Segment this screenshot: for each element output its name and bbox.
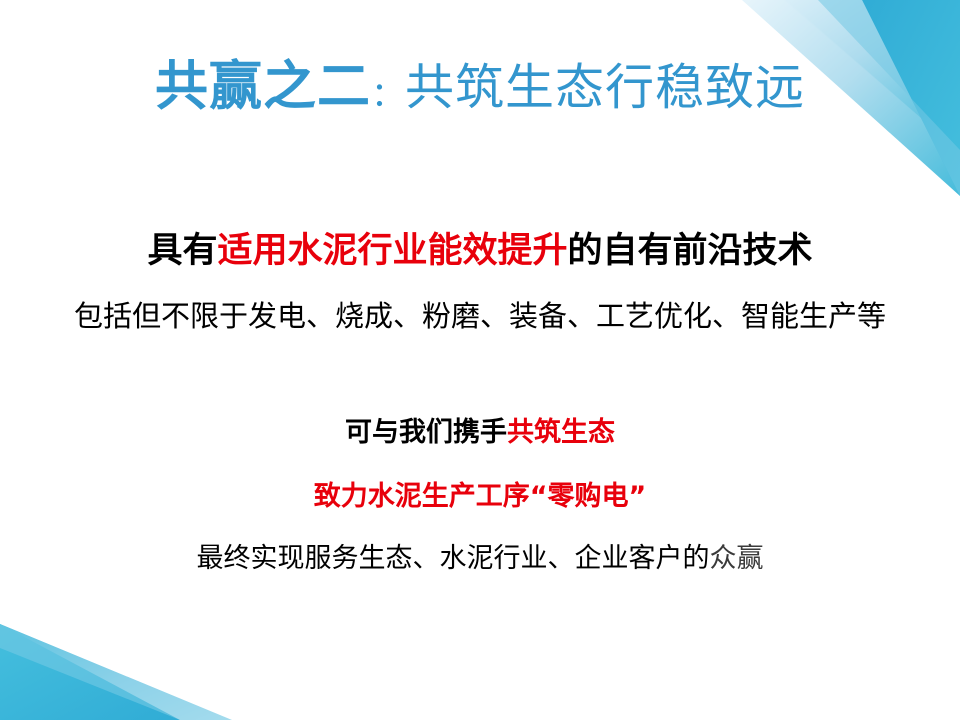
- decoration-bottom-left-sliver: [0, 624, 232, 720]
- decoration-bottom-left-light-band: [0, 624, 232, 720]
- body-line-3-prefix: 可与我们携手: [345, 417, 507, 448]
- title-light-part: 共筑生态行稳致远: [405, 59, 805, 116]
- title-colon: ：: [371, 75, 405, 115]
- body-line-5-prefix: 最终实现服务生态、水泥行业、企业客户的: [197, 543, 710, 574]
- slide-canvas: 共赢之二：共筑生态行稳致远 具有适用水泥行业能效提升的自有前沿技术 包括但不限于…: [0, 0, 960, 720]
- title-strong-part: 共赢之二: [155, 55, 371, 117]
- body-line-5: 最终实现服务生态、水泥行业、企业客户的众赢: [0, 544, 960, 574]
- decoration-bottom-left-teal-triangle: [0, 624, 180, 720]
- body-line-2-text: 包括但不限于发电、烧成、粉磨、装备、工艺优化、智能生产等: [74, 299, 886, 333]
- body-line-3: 可与我们携手共筑生态: [0, 418, 960, 448]
- body-line-4: 致力水泥生产工序“零购电”: [0, 482, 960, 512]
- body-line-5-suffix: 众赢: [710, 543, 764, 574]
- body-line-2: 包括但不限于发电、烧成、粉磨、装备、工艺优化、智能生产等: [0, 301, 960, 333]
- body-line-1-prefix: 具有: [147, 231, 217, 271]
- page-title: 共赢之二：共筑生态行稳致远: [0, 60, 960, 113]
- body-line-1-suffix: 的自有前沿技术: [568, 231, 813, 271]
- body-line-3-highlight: 共筑生态: [507, 417, 615, 448]
- body-line-4-text: 致力水泥生产工序“零购电”: [314, 481, 647, 512]
- body-line-1: 具有适用水泥行业能效提升的自有前沿技术: [0, 232, 960, 271]
- body-line-1-highlight: 适用水泥行业能效提升: [217, 231, 567, 271]
- title-line: 共赢之二：共筑生态行稳致远: [155, 60, 805, 113]
